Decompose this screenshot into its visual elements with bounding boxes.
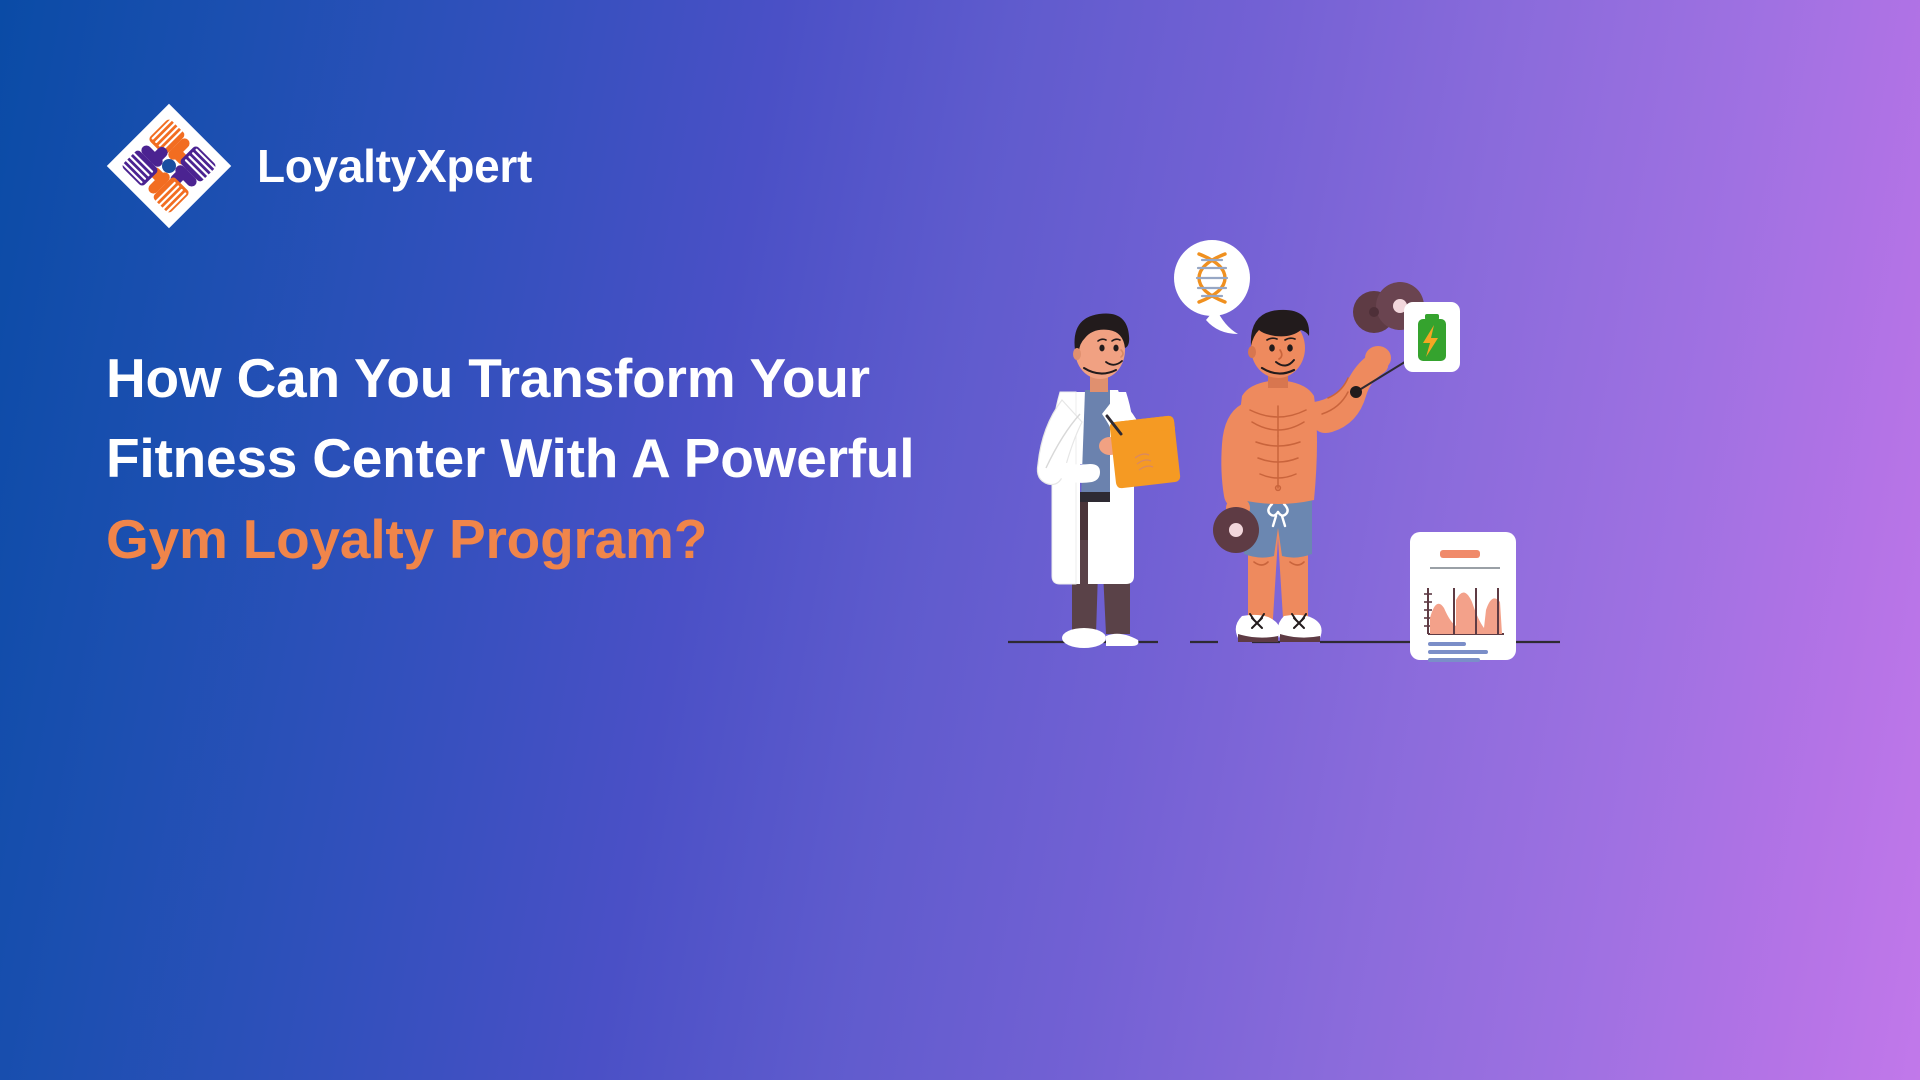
doctor-figure xyxy=(1037,313,1180,648)
headline-line-2: Fitness Center With A Powerful xyxy=(106,418,1056,498)
stats-card-badge xyxy=(1410,532,1516,660)
sneaker-left xyxy=(1236,614,1280,642)
sneaker-right xyxy=(1278,614,1322,642)
headline-block: How Can You Transform Your Fitness Cente… xyxy=(106,338,1056,579)
clipboard xyxy=(1110,416,1180,488)
dumbbell-lower xyxy=(1213,507,1259,553)
fitness-illustration xyxy=(980,210,1600,730)
four-hands-diamond-logo-icon xyxy=(103,100,235,232)
battery-bolt-icon xyxy=(1418,314,1446,361)
headline-line-1: How Can You Transform Your xyxy=(106,338,1056,418)
headline-line-3-accent: Gym Loyalty Program? xyxy=(106,499,1056,579)
card-title-bar xyxy=(1440,550,1480,558)
bodybuilder-figure xyxy=(1213,282,1424,642)
dna-bubble-badge xyxy=(1174,240,1250,334)
promo-banner: LoyaltyXpert How Can You Transform Your … xyxy=(0,0,1920,1080)
brand-logo[interactable]: LoyaltyXpert xyxy=(103,100,532,232)
brand-name: LoyaltyXpert xyxy=(257,143,532,189)
